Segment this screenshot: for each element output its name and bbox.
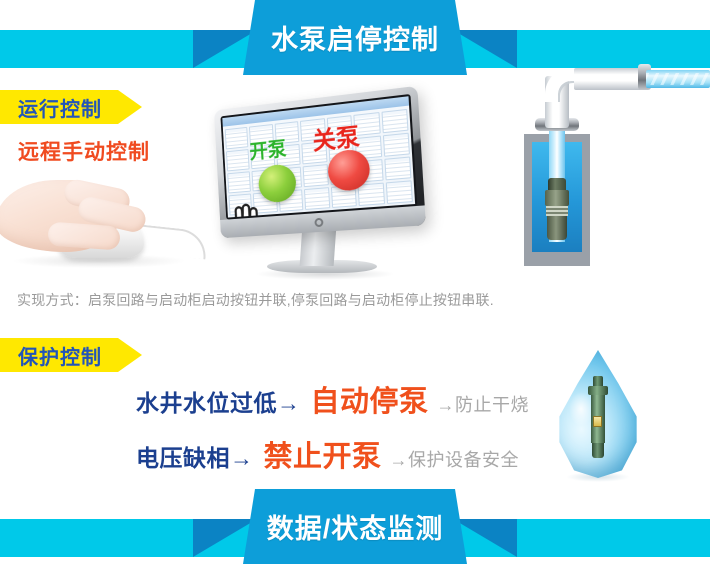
hand-on-mouse-illustration	[0, 168, 206, 280]
tag-run-control-label: 运行控制	[18, 93, 102, 122]
scada-tile[interactable]	[358, 183, 385, 206]
protection-rule: 电压缺相→ 禁止开泵 →保护设备安全	[136, 433, 519, 475]
hand-cursor-icon	[222, 199, 266, 217]
pipe-horizontal-section	[574, 68, 644, 90]
monitor-screen: 开泵 关泵	[222, 96, 415, 217]
promo-page: 水泵启停控制 运行控制 远程手动控制	[0, 0, 710, 564]
hand-thumb	[47, 222, 120, 251]
submersible-pump	[545, 178, 569, 240]
rule-effect: →防止干烧	[437, 391, 530, 417]
pump-motor	[547, 216, 567, 240]
water-flow-pipe	[646, 70, 710, 88]
scada-tile[interactable]	[226, 149, 250, 171]
section-banner-top: 水泵启停控制	[0, 0, 710, 75]
rule-condition: 水井水位过低→	[136, 384, 301, 418]
section-banner-bottom: 数据/状态监测	[0, 489, 710, 564]
desktop-monitor: 开泵 关泵	[205, 98, 433, 280]
well-pump-illustration	[498, 66, 710, 281]
tag-arrow-point-icon	[118, 338, 142, 372]
pump-top	[548, 178, 566, 190]
start-pump-label: 开泵	[249, 132, 288, 164]
drop-pump-motor	[592, 443, 604, 458]
scada-application: 开泵 关泵	[222, 96, 415, 217]
implementation-note: 实现方式：启泵回路与启动柜启动按钮并联,停泵回路与启动柜停止按钮串联.	[17, 290, 494, 310]
banner-top-title: 水泵启停控制	[243, 0, 467, 75]
rule-action: 禁止开泵	[264, 433, 382, 475]
water-drop-pump-illustration	[552, 350, 644, 478]
scada-tile[interactable]	[384, 156, 412, 180]
scada-tile[interactable]	[304, 187, 330, 210]
monitor-power-logo-icon	[314, 218, 323, 228]
scada-tile[interactable]	[385, 180, 413, 204]
rule-action: 自动停泵	[311, 378, 429, 420]
rule-effect: →保护设备安全	[390, 446, 520, 472]
subtitle-remote-manual-control: 远程手动控制	[18, 136, 150, 166]
pump-housing	[545, 190, 569, 206]
scada-tile[interactable]	[303, 164, 329, 187]
tag-run-control: 运行控制	[0, 90, 118, 124]
banner-bottom-title: 数据/状态监测	[243, 489, 467, 564]
pump-intake-rings	[546, 206, 568, 216]
drop-submersible-pump	[588, 376, 608, 458]
monitor-body: 开泵 关泵	[214, 86, 426, 238]
scada-tile[interactable]	[227, 171, 251, 193]
scada-tile[interactable]	[381, 109, 408, 133]
drop-pump-collar	[588, 386, 608, 395]
scada-tile[interactable]	[382, 133, 410, 157]
tag-protection-control-label: 保护控制	[18, 341, 102, 370]
protection-rule: 水井水位过低→ 自动停泵 →防止干烧	[136, 378, 529, 420]
tag-arrow-point-icon	[118, 90, 142, 124]
drop-pump-head	[593, 376, 603, 386]
monitor-bezel: 开泵 关泵	[220, 94, 417, 220]
tag-protection-control: 保护控制	[0, 338, 118, 372]
rule-condition: 电压缺相→	[136, 439, 254, 473]
scada-tile[interactable]	[225, 127, 249, 150]
drop-pump-nameplate	[593, 416, 602, 427]
